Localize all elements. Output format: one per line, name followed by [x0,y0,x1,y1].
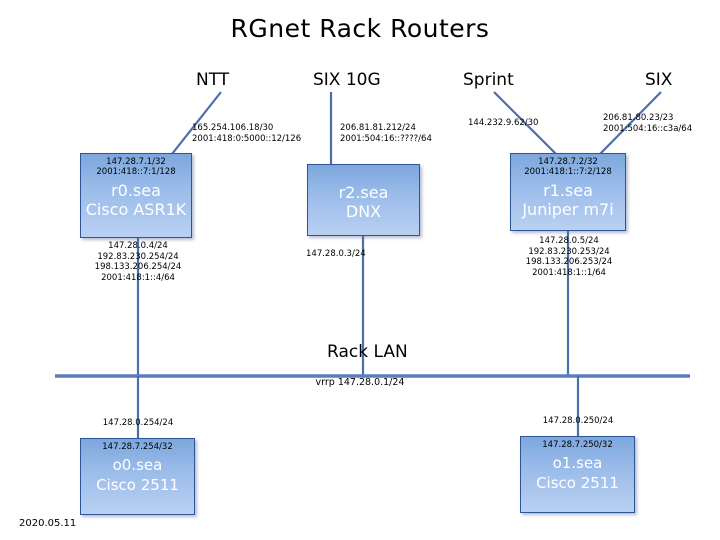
rack-lan-label: Rack LAN [327,342,408,362]
device-r2-hostname: r2.sea [339,183,389,202]
device-o0-hostname: o0.sea [113,456,163,475]
device-r1-hostname: r1.sea [543,181,593,200]
iface-note-o0-lan: 147.28.0.254/24 [78,418,198,429]
iface-note-r1-lan: 147.28.0.5/24 192.83.230.253/24 198.133.… [508,236,630,278]
device-r1-model: Juniper m7i [522,200,613,220]
device-o0-model: Cisco 2511 [96,475,179,495]
circuit-note-sprint: 144.232.9.62/30 [468,118,538,129]
provider-label-ntt: NTT [196,70,229,90]
device-o0-loopbacks: 147.28.7.254/32 [102,442,172,452]
provider-label-six: SIX [645,70,672,90]
iface-note-o1-lan: 147.28.0.250/24 [518,416,638,427]
vrrp-address-note: vrrp 147.28.0.1/24 [0,377,720,388]
provider-label-six-10g: SIX 10G [313,70,381,90]
device-r1-sea[interactable]: 147.28.7.2/32 2001:418:1::7:2/128 r1.sea… [510,153,626,231]
device-r2-model: DNX [346,202,381,222]
device-r0-sea[interactable]: 147.28.7.1/32 2001:418::7:1/128 r0.sea C… [80,153,192,238]
diagram-canvas: RGnet Rack Routers NTT SIX 10G Sprint SI… [0,0,720,540]
device-r1-loopbacks: 147.28.7.2/32 2001:418:1::7:2/128 [524,157,612,177]
circuit-note-six-10g: 206.81.81.212/24 2001:504:16::????/64 [340,123,432,144]
circuit-note-six: 206.81.80.23/23 2001:504:16::c3a/64 [603,113,692,134]
device-r0-model: Cisco ASR1K [86,200,187,220]
datestamp: 2020.05.11 [19,518,76,529]
device-r0-loopbacks: 147.28.7.1/32 2001:418::7:1/128 [96,157,175,177]
device-o1-loopbacks: 147.28.7.250/32 [542,440,612,450]
iface-note-r2-lan: 147.28.0.3/24 [306,249,366,260]
device-r0-hostname: r0.sea [111,181,161,200]
device-o1-sea[interactable]: 147.28.7.250/32 o1.sea Cisco 2511 [520,436,635,513]
device-r2-sea[interactable]: r2.sea DNX [307,164,420,236]
provider-label-sprint: Sprint [463,70,514,90]
iface-note-r0-lan: 147.28.0.4/24 192.83.230.254/24 198.133.… [78,241,198,283]
circuit-note-ntt: 165.254.106.18/30 2001:418:0:5000::12/12… [192,123,301,144]
device-o1-hostname: o1.sea [553,454,603,473]
device-o0-sea[interactable]: 147.28.7.254/32 o0.sea Cisco 2511 [80,438,195,515]
device-o1-model: Cisco 2511 [536,473,619,493]
